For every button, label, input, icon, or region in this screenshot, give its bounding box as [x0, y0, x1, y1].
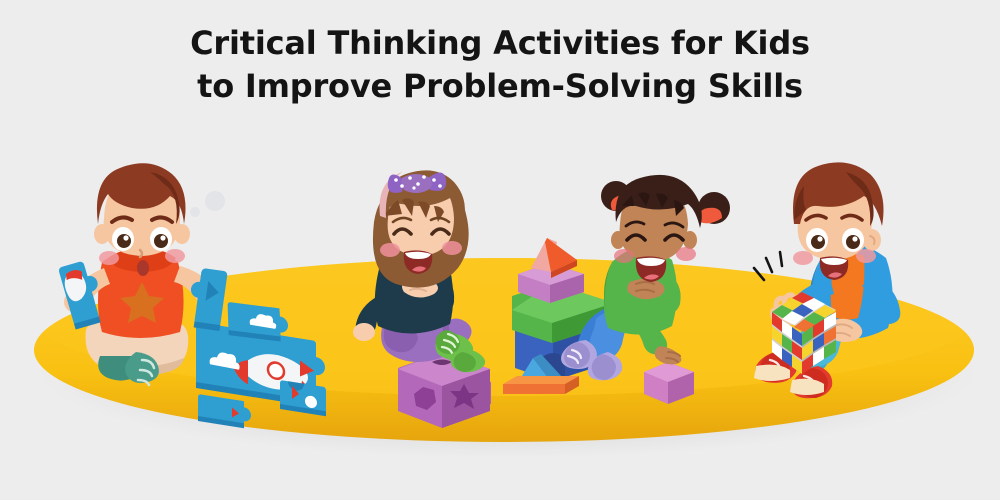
poster-canvas: Critical Thinking Activities for Kids to… [0, 0, 1000, 500]
illustration-four-kids-playing [0, 0, 1000, 500]
thought-bubble-small [190, 207, 200, 217]
hair-bow [388, 172, 446, 193]
thought-bubble-large [205, 191, 225, 211]
illustration-svg [0, 0, 1000, 500]
